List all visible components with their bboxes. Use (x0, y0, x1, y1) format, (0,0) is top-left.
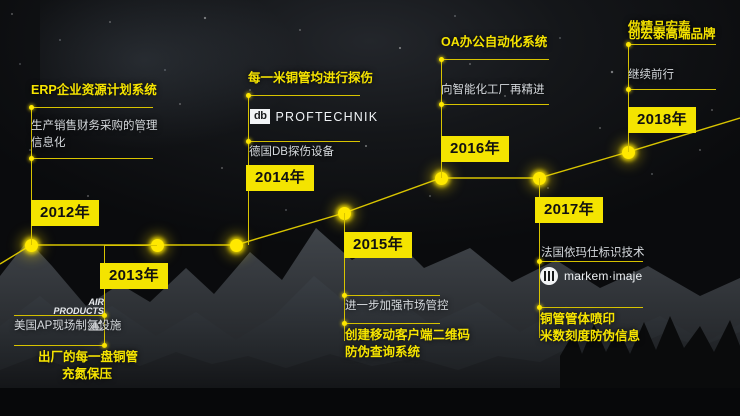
connector-dot-2017-b (537, 305, 542, 310)
timeline-infographic: ERP企业资源计划系统 生产销售财务采购的管理 信息化 2012年 2013年 … (0, 0, 740, 416)
milestone-heading-2014: 每一米铜管均进行探伤 (248, 70, 373, 87)
markem-imaje-mark-icon (540, 267, 558, 285)
underline-2013-note (14, 345, 104, 346)
underline-2012-sub (31, 158, 153, 159)
connector-dot-2015-a (342, 293, 347, 298)
milestone-note-2013-line2: 充氮保压 (62, 366, 112, 383)
milestone-note-2017-line1: 铜管管体喷印 (540, 311, 615, 328)
milestone-heading-2016: OA办公自动化系统 (441, 34, 547, 51)
underline-2015-note (344, 323, 440, 324)
air-products-logo-line2: PRODUCTS (18, 307, 104, 316)
underline-2015-sub (344, 295, 440, 296)
underline-2018-sub (628, 89, 716, 90)
connector-2013-horiz (104, 245, 157, 246)
connector-dot-2014-a (246, 93, 251, 98)
milestone-heading-2012: ERP企业资源计划系统 (31, 82, 157, 99)
milestone-sub-2012-line2: 信息化 (31, 135, 66, 152)
timeline-node-2014[interactable] (230, 239, 243, 252)
year-badge-2013[interactable]: 2013年 (100, 263, 168, 289)
proftechnik-logo-name: PROFTECHNIK (275, 110, 378, 124)
underline-2017-note (539, 307, 643, 308)
milestone-sub-2016: 向智能化工厂再精进 (441, 82, 545, 99)
year-badge-2018[interactable]: 2018年 (628, 107, 696, 133)
year-badge-2016[interactable]: 2016年 (441, 136, 509, 162)
logo-caption-2013: 美国AP现场制氮设施 (14, 318, 121, 335)
milestone-note-2015-line2: 防伪查询系统 (345, 344, 420, 361)
connector-dot-2016-a (439, 57, 444, 62)
milestone-sub-2015: 进一步加强市场管控 (345, 298, 449, 315)
markem-imaje-logo: markem·imaje (540, 267, 642, 285)
db-logo-mark: db (250, 109, 270, 124)
milestone-note-2013-line1: 出厂的每一盘铜管 (38, 349, 138, 366)
year-badge-2017[interactable]: 2017年 (535, 197, 603, 223)
year-badge-2012[interactable]: 2012年 (31, 200, 99, 226)
connector-dot-2012-a (29, 105, 34, 110)
logo-caption-2014: 德国DB探伤设备 (249, 144, 334, 161)
connector-dot-2015-b (342, 321, 347, 326)
markem-imaje-logo-name: markem·imaje (564, 269, 642, 283)
underline-2014-logo (248, 141, 360, 142)
milestone-sub-2017: 法国依玛仕标识技术 (541, 245, 645, 262)
year-badge-2015[interactable]: 2015年 (344, 232, 412, 258)
connector-dot-2018-b (626, 87, 631, 92)
connector-dot-2012-b (29, 156, 34, 161)
milestone-note-2015-line1: 创建移动客户端二维码 (345, 327, 470, 344)
milestone-heading-2018-line2: 创宏泰高端品牌 (628, 26, 716, 43)
underline-2012-heading (31, 107, 153, 108)
year-badge-2014[interactable]: 2014年 (246, 165, 314, 191)
connector-dot-2014-b (246, 139, 251, 144)
connector-dot-2013-b (102, 343, 107, 348)
milestone-sub-2018: 继续前行 (628, 67, 674, 84)
underline-2018-heading (628, 44, 716, 45)
proftechnik-logo: dbPROFTECHNIK (250, 108, 378, 126)
connector-2018 (628, 42, 629, 152)
milestone-note-2017-line2: 米数刻度防伪信息 (540, 328, 640, 345)
connector-dot-2016-b (439, 102, 444, 107)
underline-2016-heading (441, 59, 549, 60)
underline-2016-sub (441, 104, 549, 105)
underline-2014-heading (248, 95, 360, 96)
milestone-sub-2012-line1: 生产销售财务采购的管理 (31, 118, 158, 135)
